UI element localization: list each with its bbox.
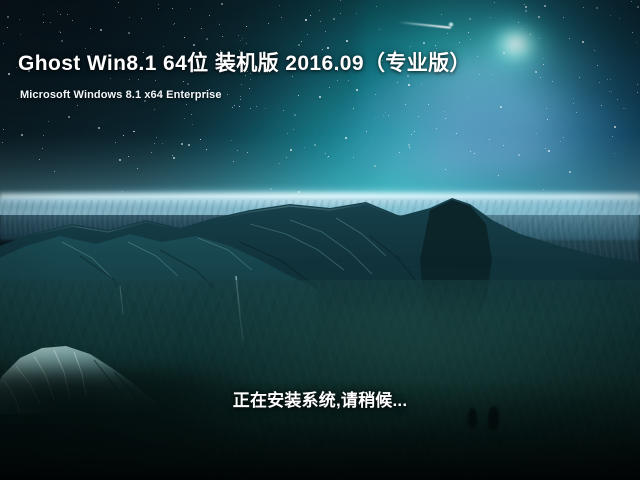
star [456, 133, 457, 134]
star [348, 80, 349, 81]
star [77, 105, 78, 106]
star [184, 37, 185, 38]
star [19, 19, 20, 20]
star [233, 161, 234, 162]
star [614, 126, 616, 128]
star [200, 139, 201, 140]
star [2, 142, 3, 143]
star [298, 95, 299, 96]
star [489, 139, 490, 140]
star [319, 10, 320, 11]
star [538, 16, 540, 18]
product-title: Ghost Win8.1 64位 装机版 2016.09（专业版） [18, 47, 471, 77]
star [298, 44, 300, 46]
star [118, 2, 119, 3]
star [100, 29, 102, 31]
star [238, 35, 239, 36]
branding-block: Ghost Win8.1 64位 装机版 2016.09（专业版） [18, 47, 471, 77]
star [234, 105, 235, 106]
star [241, 84, 242, 85]
star [408, 84, 410, 86]
star [156, 137, 157, 138]
star [490, 17, 491, 18]
star [518, 22, 519, 23]
star [286, 157, 287, 158]
star [227, 94, 228, 95]
star [158, 8, 159, 9]
star [162, 143, 163, 144]
star [133, 131, 134, 132]
star [563, 137, 564, 138]
star [222, 36, 223, 37]
star [518, 154, 520, 156]
star [543, 64, 544, 65]
star [191, 114, 192, 115]
star [356, 89, 358, 91]
star [201, 28, 202, 29]
star [327, 157, 328, 158]
star [249, 88, 250, 89]
star [573, 103, 574, 104]
star [305, 19, 307, 21]
star [72, 20, 73, 21]
star [119, 159, 121, 161]
star [479, 74, 480, 75]
star [304, 147, 305, 148]
star [468, 32, 469, 33]
star [173, 157, 175, 159]
product-subtitle: Microsoft Windows 8.1 x64 Enterprise [20, 89, 222, 101]
star [67, 14, 68, 15]
star [383, 115, 384, 116]
star [43, 135, 44, 136]
star [375, 94, 376, 95]
star [279, 163, 280, 164]
star [346, 40, 348, 42]
star [188, 144, 190, 146]
star [409, 147, 410, 148]
star [563, 17, 564, 18]
star [115, 142, 116, 143]
shooting-star-head-icon [448, 22, 454, 27]
star [138, 79, 139, 80]
star [397, 82, 398, 83]
star [181, 143, 183, 145]
star [421, 84, 422, 85]
star [435, 45, 436, 46]
star [374, 165, 376, 167]
star [128, 32, 130, 34]
star [141, 18, 142, 19]
star [494, 2, 495, 3]
star [21, 134, 23, 136]
star [3, 43, 4, 44]
star [623, 108, 624, 109]
star [503, 145, 504, 146]
star [115, 7, 116, 8]
star [209, 15, 210, 16]
star [68, 116, 70, 118]
star [7, 16, 9, 18]
star [414, 131, 415, 132]
star [385, 112, 386, 113]
star [544, 5, 546, 7]
star [607, 79, 608, 80]
star [569, 38, 570, 39]
star [530, 34, 531, 35]
star [43, 14, 44, 15]
star [329, 87, 330, 88]
star [247, 152, 248, 153]
sky-vignette-top-right [520, 0, 640, 120]
star [320, 21, 321, 22]
star [221, 3, 223, 5]
star [240, 40, 241, 41]
star [596, 7, 598, 9]
star [477, 56, 478, 57]
star [631, 1, 632, 2]
star [48, 121, 49, 122]
star [301, 41, 302, 42]
installation-status-text: 正在安装系统,请稍候... [0, 386, 640, 411]
star [610, 79, 611, 80]
star [333, 18, 335, 20]
star [242, 38, 243, 39]
star [50, 22, 51, 23]
star [39, 159, 40, 160]
installer-splash-screen: Ghost Win8.1 64位 装机版 2016.09（专业版） Micros… [0, 0, 640, 480]
star [610, 15, 611, 16]
star [250, 79, 251, 80]
star [237, 150, 238, 151]
star [540, 77, 541, 78]
star [246, 43, 247, 44]
star [428, 104, 429, 105]
star [293, 129, 294, 130]
star [239, 106, 240, 107]
star [632, 32, 633, 33]
star [441, 14, 442, 15]
star [569, 171, 571, 173]
star [436, 128, 437, 129]
star [240, 96, 241, 97]
star [445, 118, 446, 119]
star [573, 98, 574, 99]
